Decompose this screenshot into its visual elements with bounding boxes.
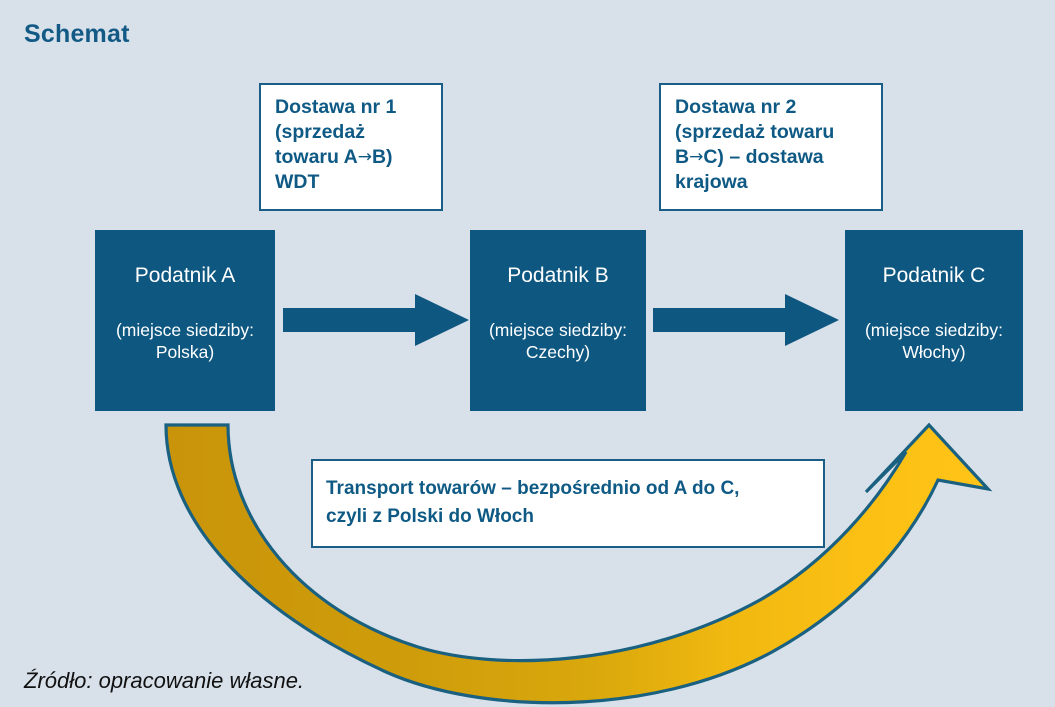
- entity-c-location: (miejsce siedziby: Włochy): [859, 319, 1009, 364]
- entity-b-location-line-2: Czechy): [489, 341, 627, 363]
- entity-a-location-line-2: Polska): [116, 341, 254, 363]
- transport-note-line-2: czyli z Polski do Włoch: [326, 503, 813, 531]
- entity-b-name: Podatnik B: [507, 264, 609, 287]
- callout-2-line-3-post: C) – dostawa: [703, 146, 823, 168]
- callout-transport-note: Transport towarów – bezpośrednio od A do…: [311, 459, 825, 548]
- entity-a-name: Podatnik A: [135, 264, 235, 287]
- callout-1-line-3-post: B): [372, 146, 393, 168]
- callout-1-line-2: (sprzedaż: [275, 120, 429, 145]
- entity-c-name: Podatnik C: [883, 264, 986, 287]
- callout-1-line-3: towaru A→B): [275, 145, 429, 170]
- transport-note-line-1: Transport towarów – bezpośrednio od A do…: [326, 475, 813, 503]
- diagram-canvas: Schemat Dostawa nr 1 (sprzedaż towaru A→…: [0, 0, 1055, 707]
- right-arrow-icon: →: [358, 147, 372, 167]
- source-caption: Źródło: opracowanie własne.: [24, 668, 304, 694]
- callout-2-line-3: B→C) – dostawa: [675, 145, 869, 170]
- entity-c-location-line-2: Włochy): [865, 341, 1003, 363]
- entity-b-location-line-1: (miejsce siedziby:: [489, 319, 627, 341]
- callout-1-line-1: Dostawa nr 1: [275, 95, 429, 120]
- entity-podatnik-b: Podatnik B (miejsce siedziby: Czechy): [470, 230, 646, 411]
- page-title: Schemat: [24, 20, 130, 49]
- arrow-b-to-c-icon: [653, 294, 839, 346]
- entity-podatnik-a: Podatnik A (miejsce siedziby: Polska): [95, 230, 275, 411]
- callout-2-line-1: Dostawa nr 2: [675, 95, 869, 120]
- right-arrow-icon: →: [689, 147, 703, 167]
- entity-podatnik-c: Podatnik C (miejsce siedziby: Włochy): [845, 230, 1023, 411]
- callout-1-line-3-pre: towaru A: [275, 146, 358, 168]
- callout-1-line-4: WDT: [275, 170, 429, 195]
- callout-2-line-3-pre: B: [675, 146, 689, 168]
- callout-delivery-2: Dostawa nr 2 (sprzedaż towaru B→C) – dos…: [659, 83, 883, 211]
- callout-delivery-1: Dostawa nr 1 (sprzedaż towaru A→B) WDT: [259, 83, 443, 211]
- entity-c-location-line-1: (miejsce siedziby:: [865, 319, 1003, 341]
- entity-a-location-line-1: (miejsce siedziby:: [116, 319, 254, 341]
- callout-2-line-4: krajowa: [675, 170, 869, 195]
- arrow-a-to-b-icon: [283, 294, 469, 346]
- callout-2-line-2: (sprzedaż towaru: [675, 120, 869, 145]
- entity-b-location: (miejsce siedziby: Czechy): [483, 319, 633, 364]
- entity-a-location: (miejsce siedziby: Polska): [110, 319, 260, 364]
